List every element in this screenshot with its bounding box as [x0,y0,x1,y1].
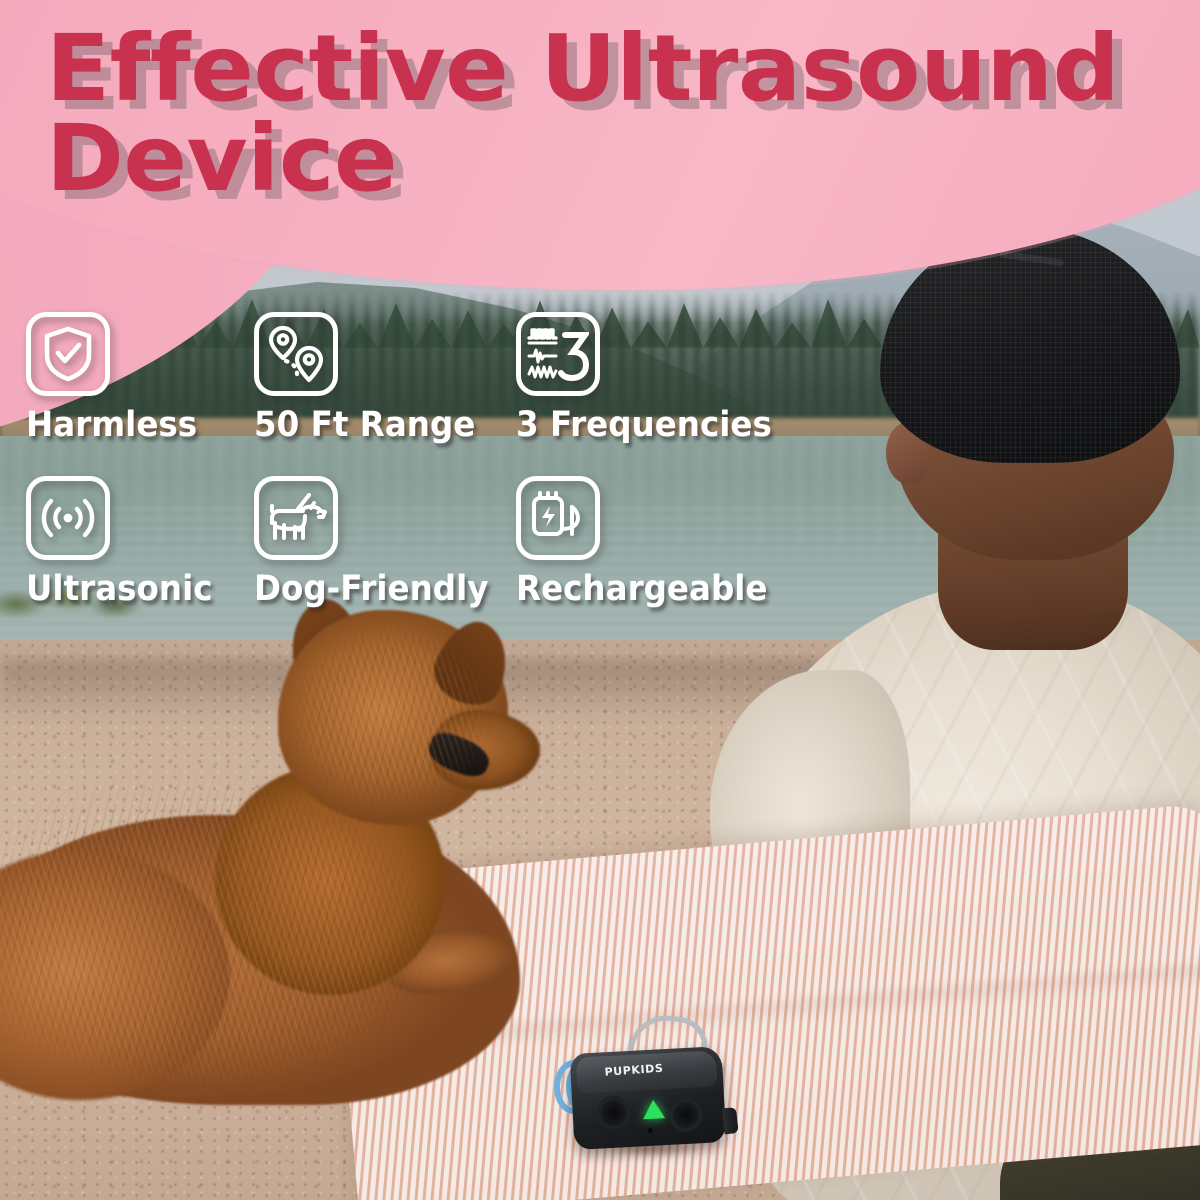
signal-broadcast-icon [26,476,110,560]
page-title: Effective Ultrasound Device [46,24,1199,204]
feature-label-rechargeable: Rechargeable [516,572,758,607]
device-speaker-left [596,1095,632,1131]
device-sensor-dot [648,1128,653,1133]
map-pins-route-icon [254,312,338,396]
feature-grid: Harmless 50 Ft Range [26,312,776,607]
feature-range: 50 Ft Range [254,312,516,476]
feature-ultrasonic: Ultrasonic [26,476,254,607]
feature-label-dog-friendly: Dog-Friendly [254,572,498,607]
device-side-port [722,1107,739,1134]
device-speaker-right [668,1097,704,1133]
device-led-indicator [642,1099,665,1119]
feature-frequencies: 3 Frequencies [516,312,776,476]
headline-line-2: Device [46,114,1199,204]
feature-rechargeable: Rechargeable [516,476,776,607]
dog-figure [0,600,580,1100]
feature-label-harmless: Harmless [26,408,238,443]
product-device: PUPKIDS [552,1018,732,1168]
three-waveforms-icon [516,312,600,396]
dog-leash-icon [254,476,338,560]
shield-check-icon [26,312,110,396]
device-body: PUPKIDS [570,1046,727,1150]
feature-label-ultrasonic: Ultrasonic [26,572,238,607]
feature-label-frequencies: 3 Frequencies [516,408,758,443]
battery-charging-icon [516,476,600,560]
feature-dog-friendly: Dog-Friendly [254,476,516,607]
product-poster: Effective Ultrasound Device Harmless [0,0,1200,1200]
dog-fur-texture [0,600,580,1100]
feature-harmless: Harmless [26,312,254,476]
feature-label-range: 50 Ft Range [254,408,498,443]
